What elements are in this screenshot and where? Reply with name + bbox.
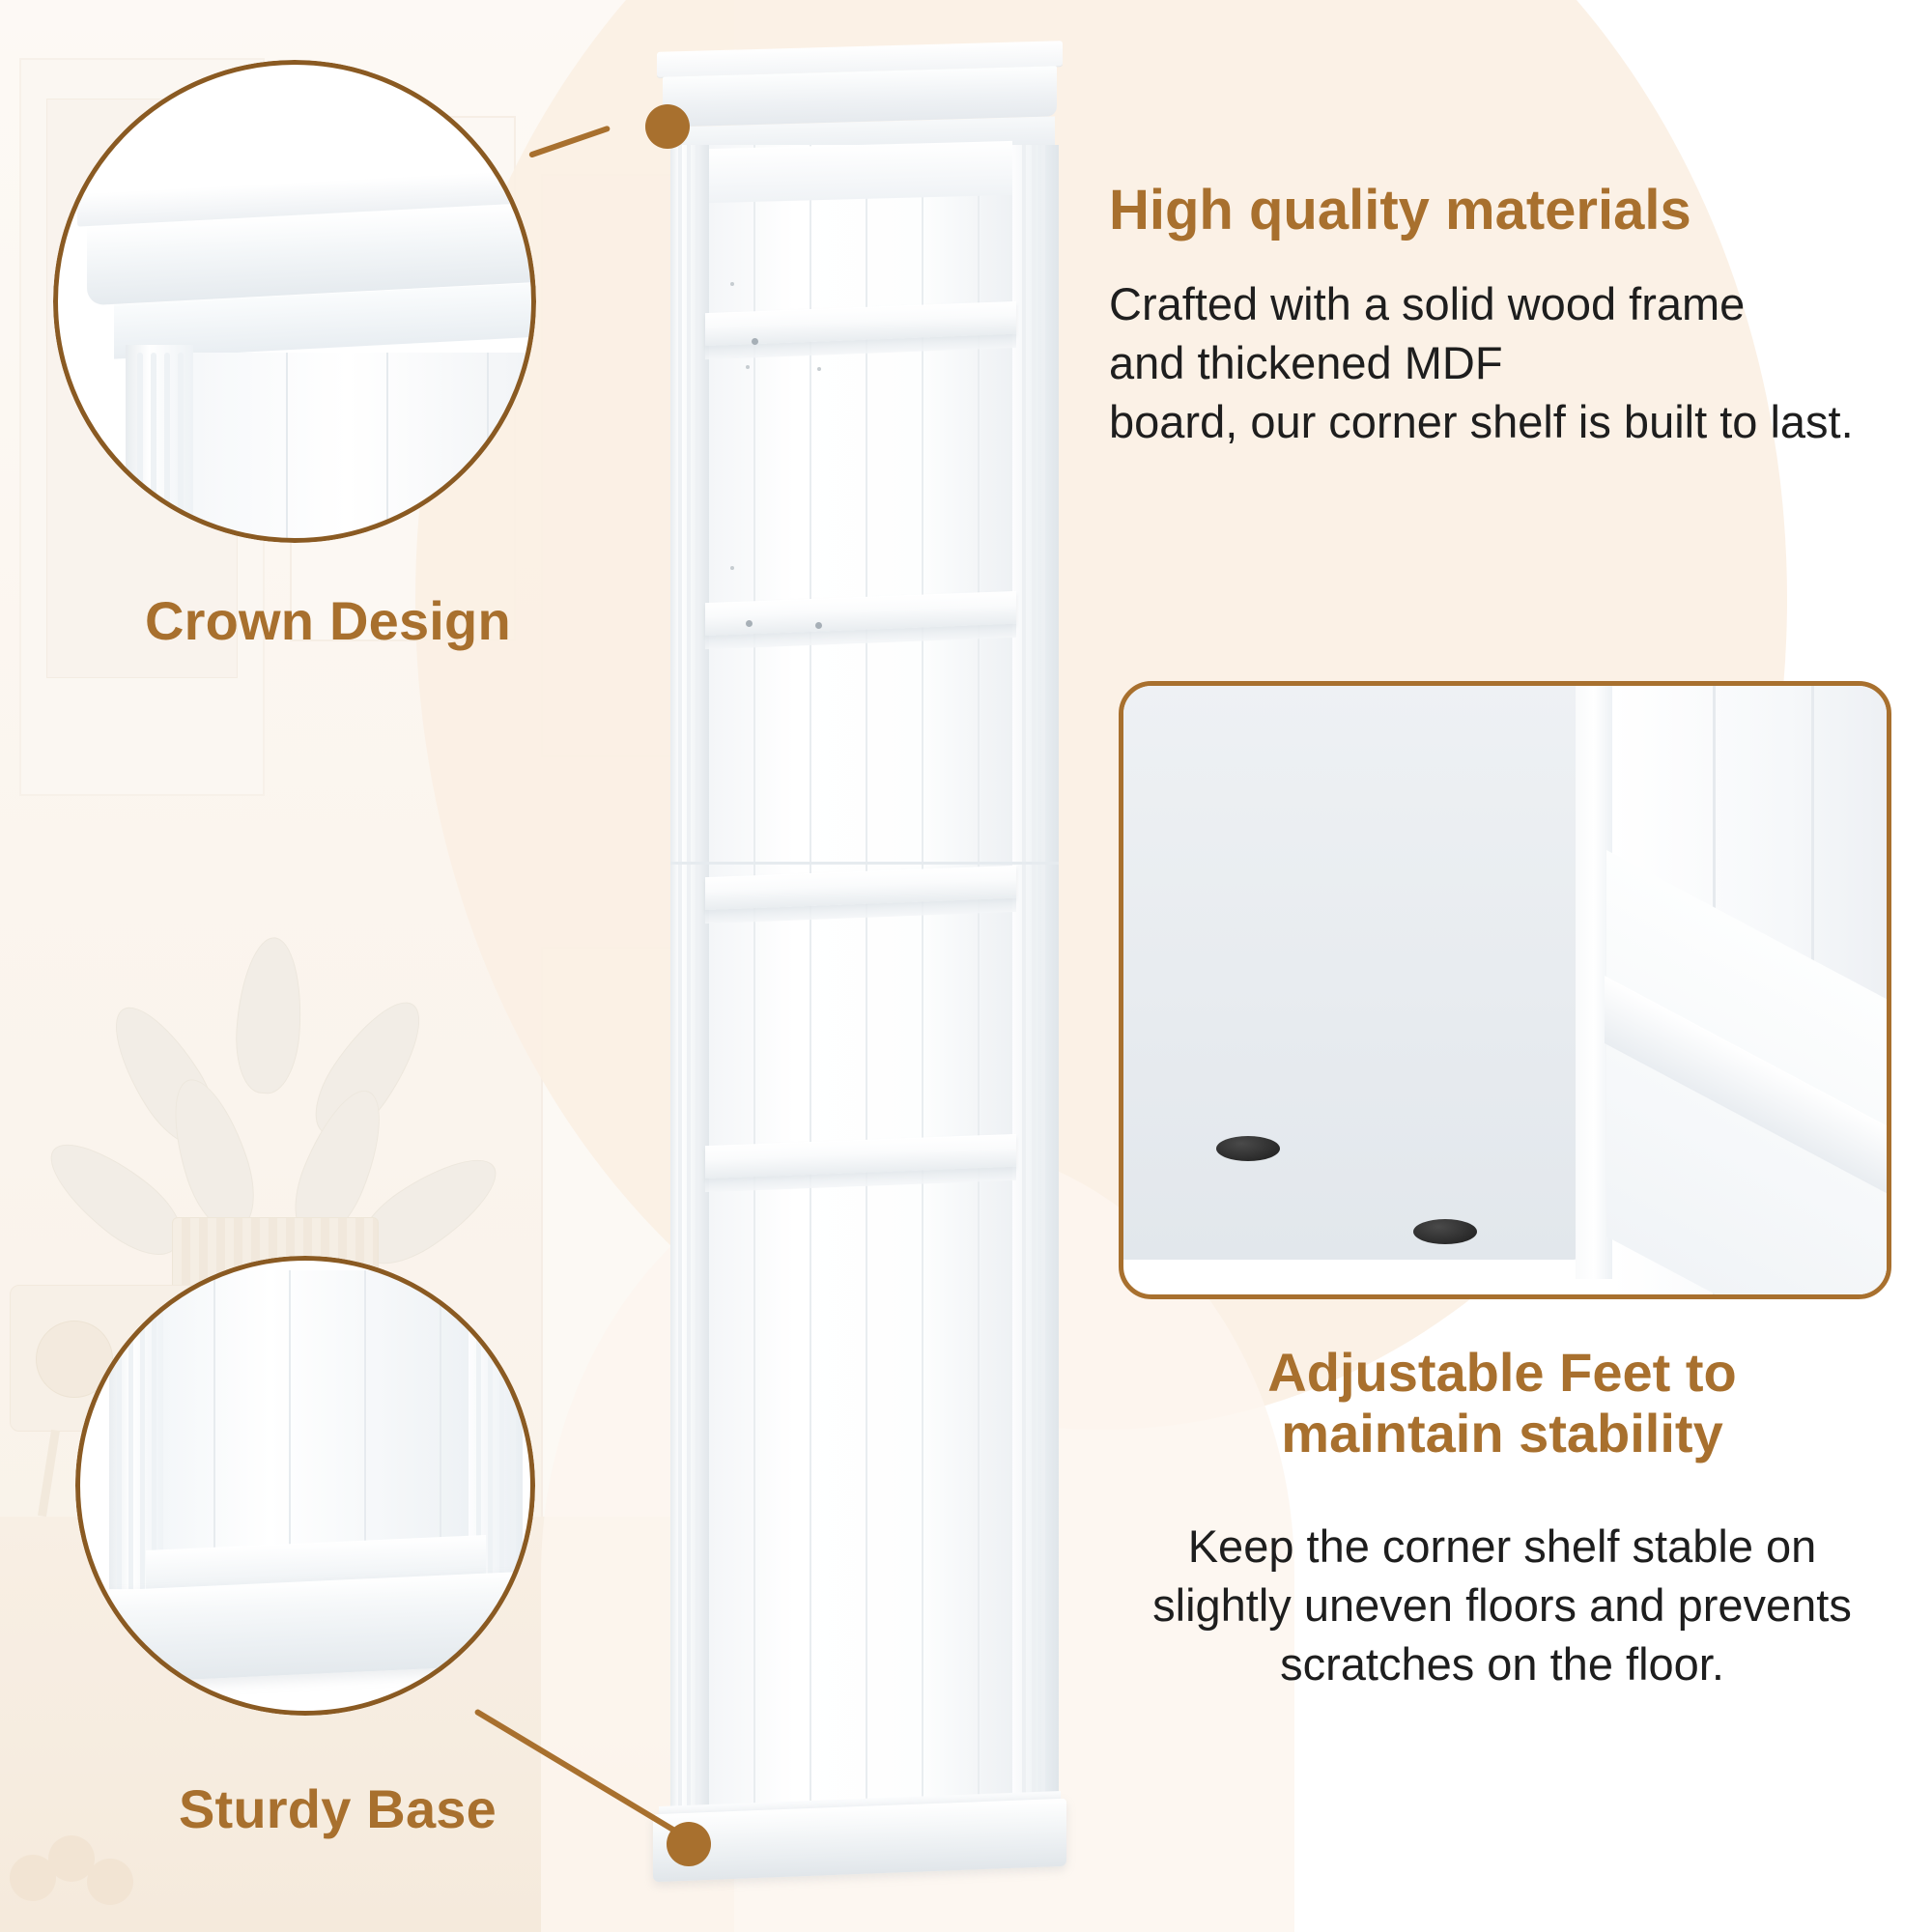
plinth-base bbox=[653, 1799, 1066, 1882]
callout-box-adjustable-feet bbox=[1119, 681, 1891, 1299]
left-fluted-column bbox=[670, 145, 709, 1806]
connector-dot-crown bbox=[645, 104, 690, 149]
infographic-canvas: Crown Design Sturdy Base High quality ma… bbox=[0, 0, 1932, 1932]
feature-title-adjustable-feet: Adjustable Feet to maintain stability bbox=[1096, 1343, 1908, 1463]
right-fluted-column bbox=[1012, 145, 1059, 1806]
feature-title-line: maintain stability bbox=[1096, 1404, 1908, 1464]
adjustable-foot bbox=[1216, 1136, 1280, 1161]
feature-body-line: board, our corner shelf is built to last… bbox=[1109, 392, 1911, 451]
cabinet-seam bbox=[670, 862, 1059, 865]
feature-title-line: Adjustable Feet to bbox=[1096, 1343, 1908, 1404]
callout-circle-base bbox=[75, 1256, 535, 1716]
adjustable-foot bbox=[1413, 1219, 1477, 1244]
callout-label-crown-design: Crown Design bbox=[145, 589, 511, 652]
adjustable-feet-photo bbox=[1123, 686, 1887, 1294]
crown-detail-photo bbox=[58, 65, 531, 538]
feature-body-high-quality-materials: Crafted with a solid wood frame and thic… bbox=[1109, 274, 1911, 451]
feature-title-high-quality-materials: High quality materials bbox=[1109, 180, 1691, 242]
shelf-back-panel bbox=[709, 145, 1012, 1806]
feature-body-line: and thickened MDF bbox=[1109, 333, 1911, 392]
feature-body-line: scratches on the floor. bbox=[1087, 1634, 1918, 1693]
feature-body-line: Crafted with a solid wood frame bbox=[1109, 274, 1911, 333]
fruit-bowl bbox=[10, 1826, 155, 1932]
feature-body-line: slightly uneven floors and prevents bbox=[1087, 1576, 1918, 1634]
top-head-rail bbox=[709, 141, 1012, 203]
feature-body-adjustable-feet: Keep the corner shelf stable on slightly… bbox=[1087, 1517, 1918, 1693]
connector-dot-base bbox=[667, 1822, 711, 1866]
callout-label-sturdy-base: Sturdy Base bbox=[179, 1777, 497, 1840]
feature-body-line: Keep the corner shelf stable on bbox=[1087, 1517, 1918, 1576]
callout-circle-crown bbox=[53, 60, 536, 543]
base-detail-photo bbox=[80, 1261, 530, 1711]
product-corner-shelf-image bbox=[638, 29, 1082, 1893]
